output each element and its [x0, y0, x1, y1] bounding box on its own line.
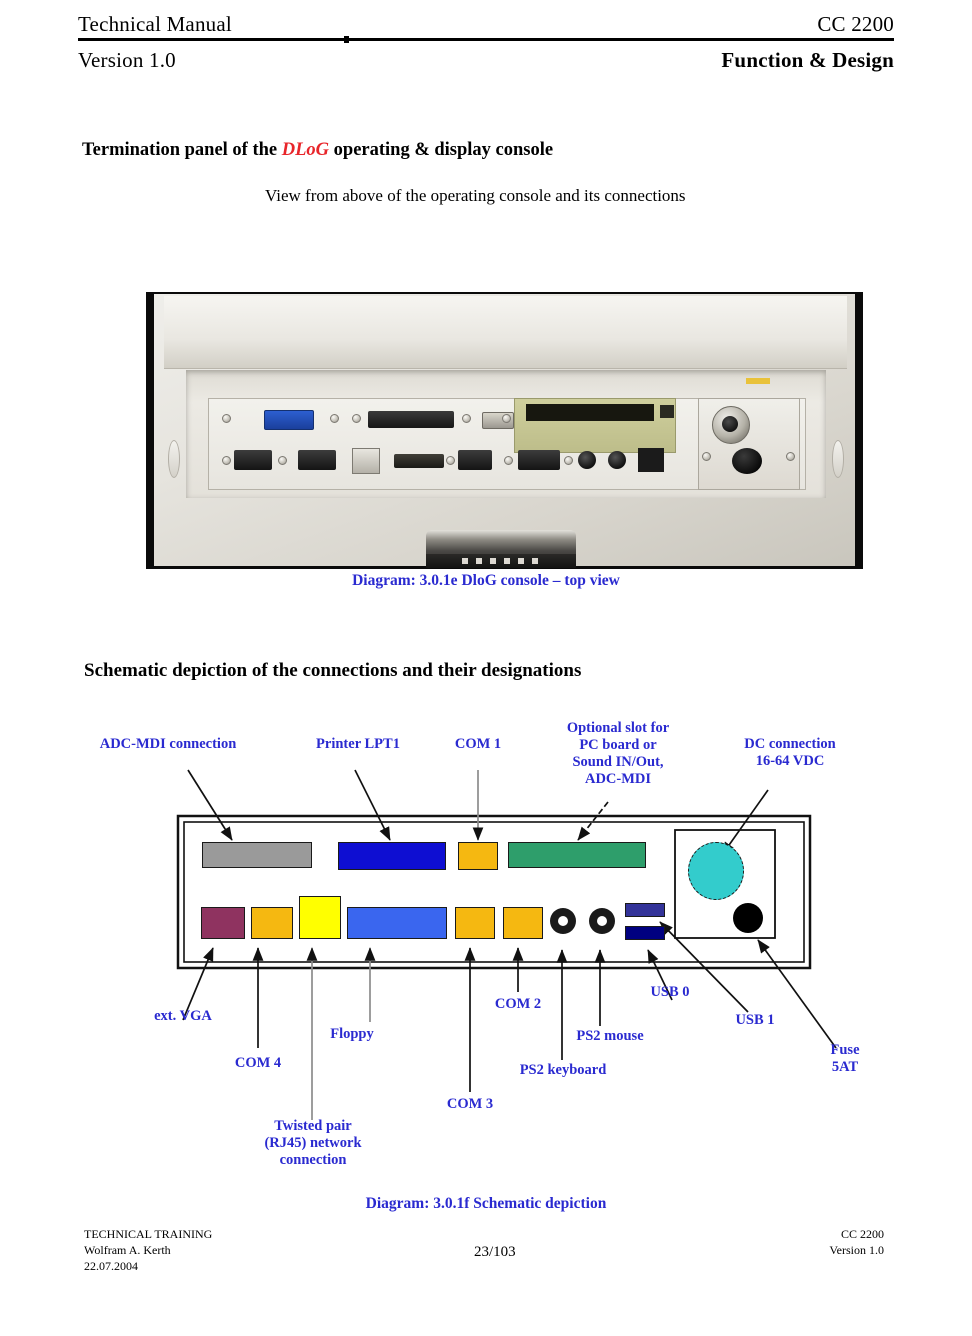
photo-usb-block: [638, 448, 664, 472]
photo-lpt-connector: [368, 411, 454, 428]
section-title-part1: Termination panel of the: [82, 140, 282, 160]
photo-side-grip-right: [832, 440, 844, 478]
port-fuse-5at[interactable]: [733, 903, 763, 933]
photo-vga-connector: [264, 410, 314, 430]
photo-ps2-mouse: [608, 451, 626, 469]
console-top-bevel: [164, 296, 847, 369]
photo-caption: Diagram: 3.0.1e DloG console – top view: [0, 572, 972, 590]
photo-screw-6: [222, 456, 231, 465]
page-footer: TECHNICAL TRAINING Wolfram A. Kerth 22.0…: [84, 1226, 884, 1296]
photo-dsub-a: [234, 450, 272, 470]
schematic-diagram: ADC-MDI connection Printer LPT1 COM 1 Op…: [0, 700, 972, 1220]
port-com-3[interactable]: [455, 907, 495, 939]
label-ps2-mouse: PS2 mouse: [530, 1028, 690, 1045]
photo-rj45-connector: [352, 448, 380, 474]
footer-product-code: CC 2200: [829, 1226, 884, 1242]
photo-screw-10: [564, 456, 573, 465]
port-optional-slot[interactable]: [508, 842, 646, 868]
section-subtitle-view-from-above: View from above of the operating console…: [265, 186, 686, 206]
label-floppy: Floppy: [294, 1026, 410, 1043]
footer-left-block: TECHNICAL TRAINING Wolfram A. Kerth 22.0…: [84, 1226, 212, 1274]
photo-screw-4: [462, 414, 471, 423]
port-ext-vga[interactable]: [201, 907, 245, 939]
header-row-top: Technical Manual CC 2200: [78, 12, 894, 37]
photo-dc-connector-core: [722, 416, 738, 432]
label-ext-vga: ext. VGA: [108, 1008, 258, 1025]
dlog-brand-text: DLoG: [282, 140, 329, 160]
manual-title: Technical Manual: [78, 12, 232, 37]
header-row-bottom: Version 1.0 Function & Design: [78, 48, 894, 73]
section-title-termination-panel: Termination panel of the DLoG operating …: [82, 140, 553, 161]
port-usb-0[interactable]: [625, 903, 665, 917]
yellow-label-tab: [746, 378, 770, 384]
footer-author: Wolfram A. Kerth: [84, 1242, 212, 1258]
photo-side-grip-left: [168, 440, 180, 478]
photo-mount-detail: [462, 558, 542, 564]
photo-dsub-b: [298, 450, 336, 470]
port-floppy[interactable]: [299, 896, 341, 939]
photo-dsub-d: [518, 450, 560, 470]
label-optional-slot: Optional slot for PC board or Sound IN/O…: [538, 720, 698, 788]
port-com-1[interactable]: [458, 842, 498, 870]
label-usb-1: USB 1: [700, 1012, 810, 1029]
option-board-slot: [526, 404, 654, 421]
header-divider-marker: [344, 36, 349, 43]
photo-screw-1: [222, 414, 231, 423]
footer-department: TECHNICAL TRAINING: [84, 1226, 212, 1242]
port-ps2-keyboard[interactable]: [550, 908, 576, 934]
photo-fuse: [732, 448, 762, 474]
photo-ps2-keyboard: [578, 451, 596, 469]
photo-floppy-connector: [394, 454, 444, 468]
label-com-4: COM 4: [188, 1055, 328, 1072]
section-title-part2: operating & display console: [329, 140, 553, 160]
photo-screw-3: [352, 414, 361, 423]
chapter-title: Function & Design: [721, 48, 894, 73]
product-code: CC 2200: [817, 12, 894, 37]
photo-screw-12: [786, 452, 795, 461]
header-divider: [78, 38, 894, 41]
port-usb-1[interactable]: [625, 926, 665, 940]
label-dc-connection: DC connection 16-64 VDC: [700, 736, 880, 770]
label-fuse-5at: Fuse 5AT: [790, 1042, 900, 1076]
photo-screw-2: [330, 414, 339, 423]
schematic-caption: Diagram: 3.0.1f Schematic depiction: [0, 1195, 972, 1213]
label-com-2: COM 2: [452, 996, 584, 1013]
footer-right-block: CC 2200 Version 1.0: [829, 1226, 884, 1258]
port-rj45-network[interactable]: [347, 907, 447, 939]
page-header: Technical Manual CC 2200 Version 1.0 Fun…: [78, 12, 894, 80]
section-title-schematic: Schematic depiction of the connections a…: [84, 660, 581, 682]
photo-screw-5: [502, 414, 511, 423]
photo-screw-9: [504, 456, 513, 465]
label-com-1: COM 1: [418, 736, 538, 753]
footer-version: Version 1.0: [829, 1242, 884, 1258]
port-ps2-mouse[interactable]: [589, 908, 615, 934]
label-twisted-pair-rj45: Twisted pair (RJ45) network connection: [242, 1118, 384, 1169]
footer-date: 22.07.2004: [84, 1258, 212, 1274]
port-com-4[interactable]: [251, 907, 293, 939]
label-usb-0: USB 0: [610, 984, 730, 1001]
photo-screw-7: [278, 456, 287, 465]
photo-dsub-c: [458, 450, 492, 470]
photo-screw-11: [702, 452, 711, 461]
schematic-leader-lines: [0, 700, 972, 1220]
port-printer-lpt1[interactable]: [338, 842, 446, 870]
label-ps2-keyboard: PS2 keyboard: [484, 1062, 642, 1079]
console-photograph: [146, 292, 863, 569]
label-com-3: COM 3: [400, 1096, 540, 1113]
port-adc-mdi[interactable]: [202, 842, 312, 868]
manual-version: Version 1.0: [78, 48, 176, 73]
port-com-2[interactable]: [503, 907, 543, 939]
port-dc-connector[interactable]: [688, 842, 744, 900]
photo-screw-8: [446, 456, 455, 465]
option-board-chip: [660, 405, 674, 418]
footer-page-number: 23/103: [474, 1244, 516, 1260]
photo-dc-plate: [698, 398, 800, 490]
